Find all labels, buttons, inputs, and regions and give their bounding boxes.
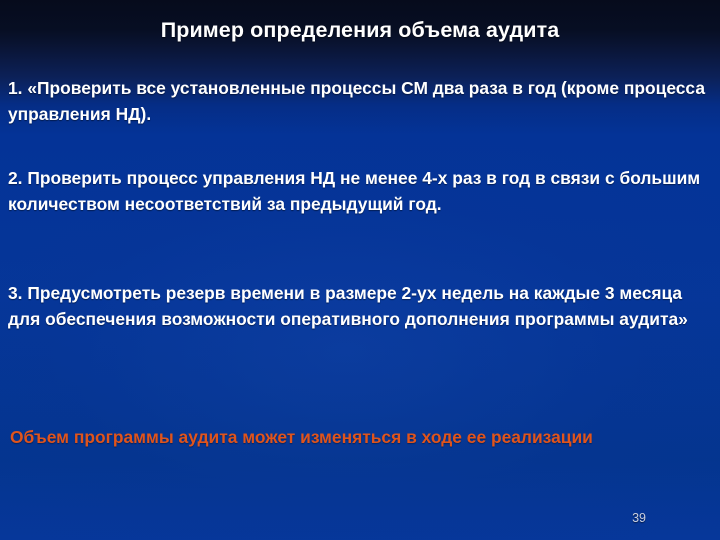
presentation-slide: Пример определения объема аудита 1. «Про… xyxy=(0,0,720,540)
slide-title: Пример определения объема аудита xyxy=(0,18,720,43)
highlighted-note: Объем программы аудита может изменяться … xyxy=(10,424,700,451)
bullet-paragraph-1: 1. «Проверить все установленные процессы… xyxy=(8,76,708,127)
bullet-paragraph-2: 2. Проверить процесс управления НД не ме… xyxy=(8,166,708,217)
slide-content: Пример определения объема аудита 1. «Про… xyxy=(0,0,720,540)
slide-page-number: 39 xyxy=(632,511,646,525)
bullet-paragraph-3: 3. Предусмотреть резерв времени в размер… xyxy=(8,281,708,332)
